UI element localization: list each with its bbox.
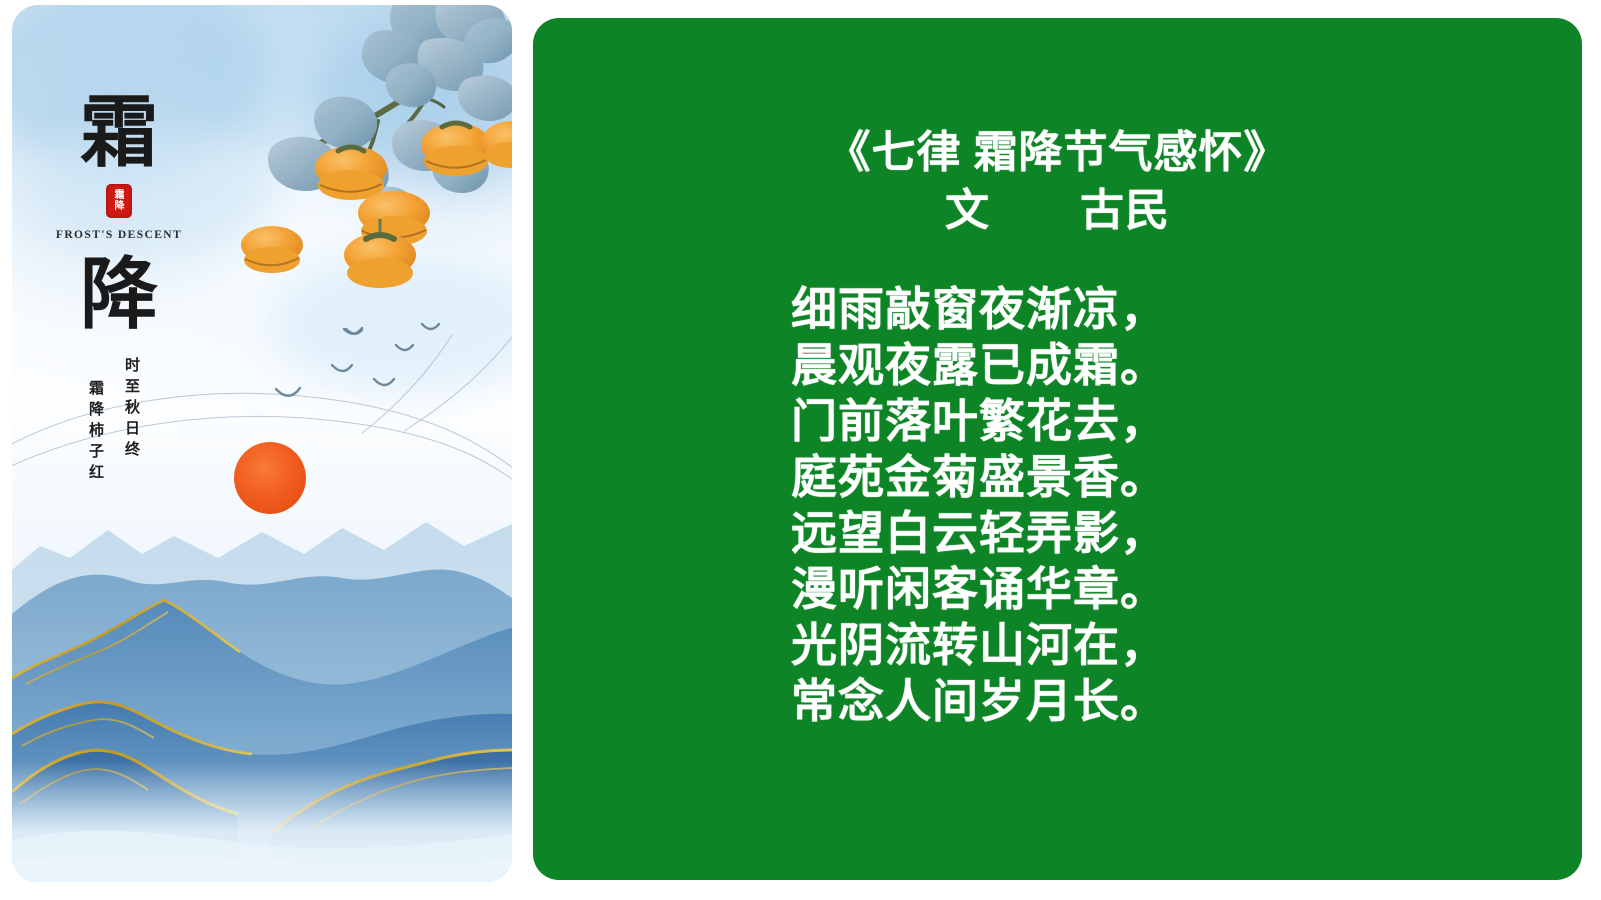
- poem-line: 细雨敲窗夜渐凉，: [791, 282, 1582, 338]
- mountain-landscape-illustration: [12, 462, 512, 882]
- poem-author: 文 古民: [533, 184, 1582, 238]
- poem-body: 细雨敲窗夜渐凉， 晨观夜露已成霜。 门前落叶繁花去， 庭苑金菊盛景香。 远望白云…: [533, 282, 1582, 730]
- frost-descent-poster-card: 霜 霜 降 FROST'S DESCENT 降 时至秋日终 霜降柿子红: [12, 5, 512, 882]
- page-root: 霜 霜 降 FROST'S DESCENT 降 时至秋日终 霜降柿子红: [0, 0, 1601, 900]
- poem-line: 光阴流转山河在，: [791, 618, 1582, 674]
- poster-title-bottom: 降: [46, 253, 192, 337]
- persimmon-branch-illustration: [228, 5, 512, 293]
- poster-title-block: 霜 霜 降 FROST'S DESCENT 降: [46, 91, 192, 337]
- poster-english-label: FROST'S DESCENT: [46, 229, 192, 241]
- poem-line: 晨观夜露已成霜。: [791, 338, 1582, 394]
- poem-title: 《七律 霜降节气感怀》: [533, 126, 1582, 180]
- seal-char-2: 降: [115, 201, 124, 212]
- poster-vertical-couplet: 时至秋日终 霜降柿子红: [84, 357, 141, 485]
- couplet-column-left: 霜降柿子红: [84, 380, 105, 485]
- poster-title-top: 霜: [46, 91, 192, 175]
- seal-char-1: 霜: [115, 190, 124, 201]
- poem-line: 漫听闲客诵华章。: [791, 562, 1582, 618]
- poem-line: 庭苑金菊盛景香。: [791, 450, 1582, 506]
- couplet-column-right: 时至秋日终: [120, 357, 141, 485]
- poem-line: 常念人间岁月长。: [791, 674, 1582, 730]
- poem-line: 远望白云轻弄影，: [791, 506, 1582, 562]
- red-seal-stamp-icon: 霜 降: [106, 184, 132, 218]
- poem-line: 门前落叶繁花去，: [791, 394, 1582, 450]
- flying-birds-icon: [270, 301, 490, 411]
- poem-green-panel: 《七律 霜降节气感怀》 文 古民 细雨敲窗夜渐凉， 晨观夜露已成霜。 门前落叶繁…: [533, 18, 1582, 880]
